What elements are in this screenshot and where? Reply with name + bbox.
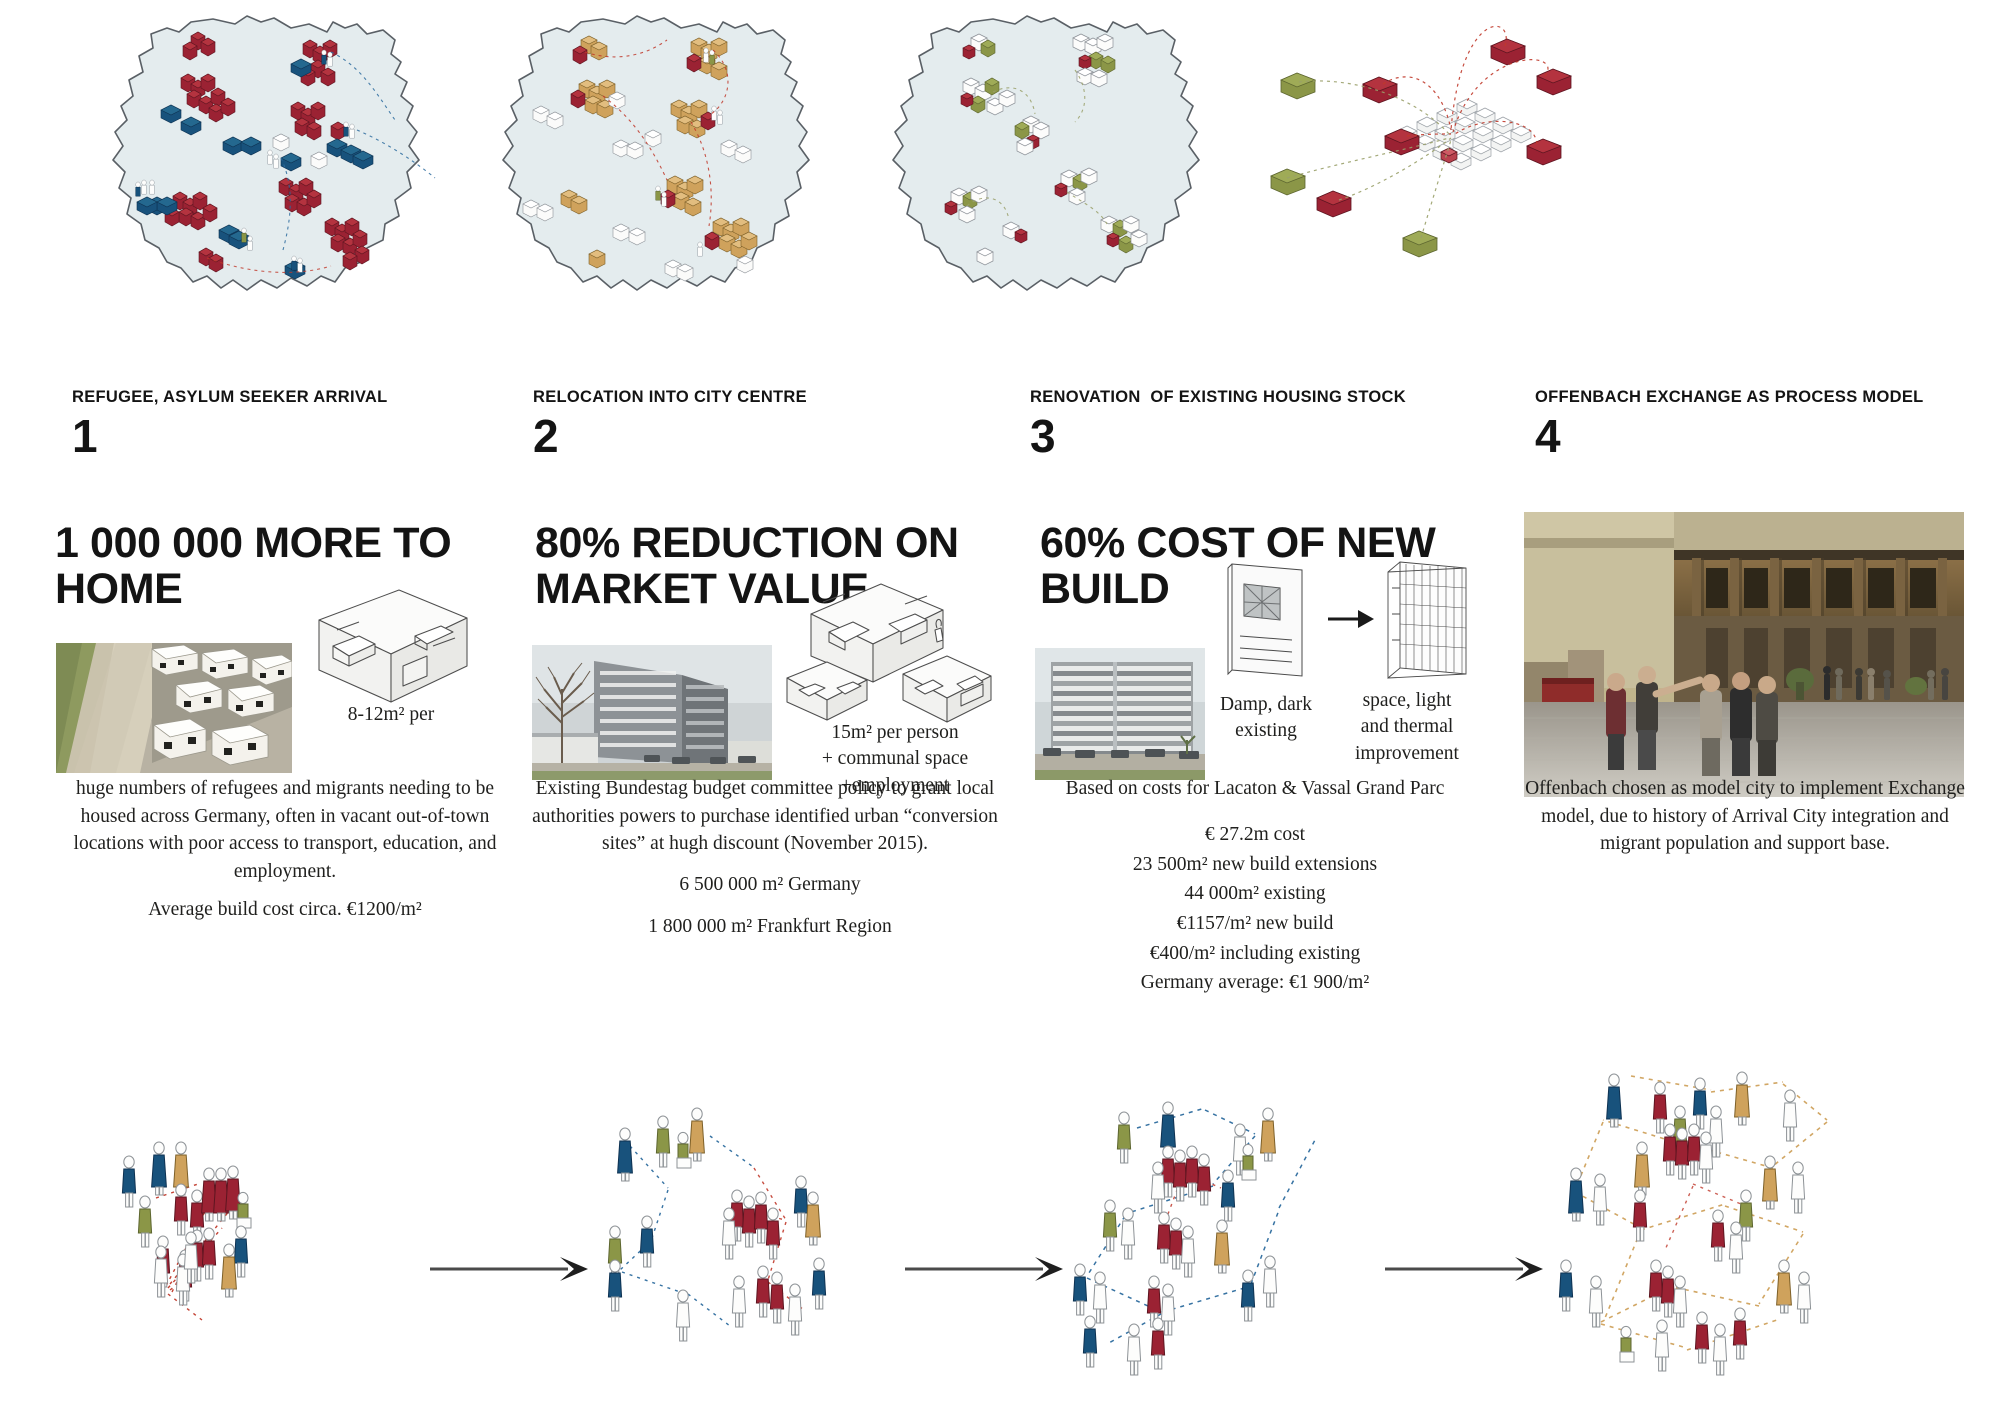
cluster-first-connections	[590, 1080, 990, 1414]
caption-step-3: RENOVATION OF EXISTING HOUSING STOCK 3	[1030, 388, 1406, 459]
column-4-paragraph: Offenbach chosen as model city to implem…	[1510, 775, 1980, 858]
caption-title: RELOCATION INTO CITY CENTRE	[533, 388, 807, 407]
column-3-stats-list: € 27.2m cost 23 500m² new build extensio…	[1040, 820, 1470, 998]
presentation-board: REFUGEE, ASYLUM SEEKER ARRIVAL 1 RELOCAT…	[0, 0, 2000, 1414]
column-3-stat-0: € 27.2m cost	[1040, 820, 1470, 850]
transformation-arrow-icon	[1328, 608, 1376, 630]
render-timber-market-hall-interior-with-people	[1524, 512, 1964, 797]
column-3-stat-2: 44 000m² existing	[1040, 879, 1470, 909]
sketch-label-line-1: + communal space	[785, 746, 1005, 772]
iso-sketch-communal-apartments	[785, 574, 1005, 732]
column-2-paragraph: Existing Bundestag budget committee poli…	[525, 775, 1005, 858]
caption-title: RENOVATION OF EXISTING HOUSING STOCK	[1030, 388, 1406, 407]
diagram-row-maps: REFUGEE, ASYLUM SEEKER ARRIVAL 1 RELOCAT…	[0, 0, 2000, 380]
map-diagram-1-arrival	[95, 10, 525, 310]
caption-number: 3	[1030, 413, 1406, 459]
caption-step-1: REFUGEE, ASYLUM SEEKER ARRIVAL 1	[72, 388, 388, 459]
photo-modernist-apartment-block-with-trees	[532, 645, 772, 780]
map-diagram-3-renovation	[875, 10, 1305, 310]
column-1-stat-0: Average build cost circa. €1200/m²	[55, 895, 515, 925]
before-label-line-0: Damp, dark	[1206, 692, 1326, 718]
column-3-stat-4: €400/m² including existing	[1040, 939, 1470, 969]
sequence-arrow-1	[430, 1254, 590, 1284]
people-network-sequence	[0, 1080, 2000, 1414]
cluster-integrated-network	[1545, 1080, 1945, 1414]
column-3-stat-5: Germany average: €1 900/m²	[1040, 968, 1470, 998]
column-3-cost-of-new-build: 60% COST OF NEW BUILD	[1040, 520, 1470, 612]
caption-title: OFFENBACH EXCHANGE AS PROCESS MODEL	[1535, 388, 1924, 407]
column-1-more-to-home: 1 000 000 MORE TO HOME	[55, 520, 515, 612]
sketch-before-damp-dark-facade	[1218, 558, 1316, 684]
after-label-line-2: improvement	[1332, 741, 1482, 767]
caption-number: 1	[72, 413, 388, 459]
caption-number: 4	[1535, 413, 1924, 459]
column-3-paragraph: Based on costs for Lacaton & Vassal Gran…	[1010, 775, 1500, 803]
map-diagram-2-relocation	[485, 10, 915, 310]
caption-step-4: OFFENBACH EXCHANGE AS PROCESS MODEL 4	[1535, 388, 1924, 459]
sequence-arrow-2	[905, 1254, 1065, 1284]
cluster-isolated-arrival	[110, 1080, 510, 1414]
cluster-growing-network	[1065, 1080, 1465, 1414]
column-2-stat-0: 6 500 000 m² Germany	[535, 870, 1005, 900]
after-label-line-1: and thermal	[1332, 714, 1482, 740]
aerial-photo-white-container-housing	[56, 643, 292, 773]
map-diagram-4-offenbach-exchange	[1265, 10, 1695, 310]
caption-title: REFUGEE, ASYLUM SEEKER ARRIVAL	[72, 388, 388, 407]
sketch-label-line-0: 15m² per person	[785, 720, 1005, 746]
photo-grand-parc-renovated-tower	[1035, 648, 1205, 780]
column-2-stat-1: 1 800 000 m² Frankfurt Region	[535, 912, 1005, 942]
sketch-after-glazed-extension	[1380, 558, 1478, 684]
column-3-stat-1: 23 500m² new build extensions	[1040, 850, 1470, 880]
sketch-label-area-per-person: 8-12m² per	[303, 702, 479, 728]
column-1-paragraph: huge numbers of refugees and migrants ne…	[55, 775, 515, 886]
content-row: 1 000 000 MORE TO HOME	[0, 520, 2000, 1080]
column-2-market-value: 80% REDUCTION ON MARKET VALUE	[535, 520, 1005, 612]
caption-number: 2	[533, 413, 807, 459]
label-after-condition: space, light and thermal improvement	[1332, 688, 1482, 767]
sequence-arrow-3	[1385, 1254, 1545, 1284]
label-before-condition: Damp, dark existing	[1206, 692, 1326, 745]
column-3-stat-3: €1157/m² new build	[1040, 909, 1470, 939]
caption-step-2: RELOCATION INTO CITY CENTRE 2	[533, 388, 807, 459]
iso-sketch-single-room	[303, 584, 479, 706]
after-label-line-0: space, light	[1332, 688, 1482, 714]
before-label-line-1: existing	[1206, 718, 1326, 744]
